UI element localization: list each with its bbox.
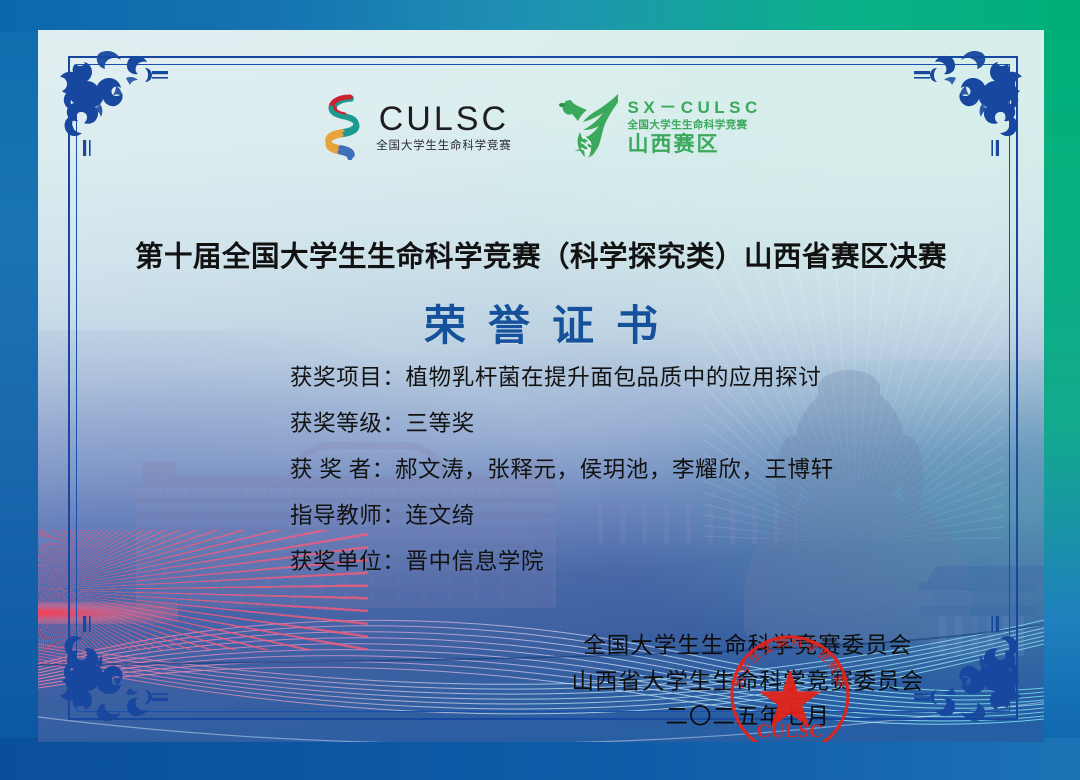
certificate-content: CULSC 全国大学生生命科学竞赛 — [38, 30, 1044, 742]
sx-culsc-region: 山西赛区 — [628, 134, 762, 155]
field-value: 植物乳杆菌在提升面包品质中的应用探讨 — [406, 360, 822, 392]
logo-row: CULSC 全国大学生生命科学竞赛 — [38, 92, 1044, 162]
culsc-acronym: CULSC — [379, 102, 509, 136]
field-row: 指导教师： 连文绮 — [290, 498, 990, 530]
certificate-root: CULSC 全国大学生生命科学竞赛 — [0, 0, 1080, 780]
field-row: 获奖等级： 三等奖 — [290, 406, 990, 438]
sx-culsc-province-logo: SX－CULSC 全国大学生生命科学竞赛 山西赛区 — [558, 92, 762, 162]
official-red-seal: 全国大学生生命科学竞赛委员会 CULSC — [728, 633, 852, 742]
culsc-wordmark: CULSC 全国大学生生命科学竞赛 — [376, 102, 511, 153]
field-label: 获奖等级： — [290, 406, 406, 438]
field-label: 获奖项目： — [290, 360, 406, 392]
phoenix-bird-dna-icon — [558, 92, 620, 162]
border-band-left — [0, 0, 40, 780]
field-value: 晋中信息学院 — [406, 544, 545, 576]
field-row: 获奖单位： 晋中信息学院 — [290, 544, 990, 576]
certificate-panel: CULSC 全国大学生生命科学竞赛 — [38, 30, 1044, 742]
border-band-right — [1040, 0, 1080, 780]
field-label: 获 奖 者： — [290, 452, 395, 484]
svg-text:CULSC: CULSC — [757, 721, 824, 742]
field-value: 郝文涛，张释元，侯玥池，李耀欣，王博轩 — [395, 452, 834, 484]
sx-culsc-subtitle: 全国大学生生命科学竞赛 — [628, 120, 762, 131]
competition-title: 第十届全国大学生生命科学竞赛（科学探究类）山西省赛区决赛 — [38, 234, 1044, 275]
culsc-subtitle: 全国大学生生命科学竞赛 — [376, 141, 511, 153]
honor-certificate-title: 荣誉证书 — [38, 292, 1044, 353]
dna-helix-icon — [320, 94, 364, 160]
field-label: 指导教师： — [290, 498, 406, 530]
field-label: 获奖单位： — [290, 544, 406, 576]
field-value: 连文绮 — [406, 498, 475, 530]
field-row: 获 奖 者： 郝文涛，张释元，侯玥池，李耀欣，王博轩 — [290, 452, 990, 484]
border-band-bottom — [0, 738, 1080, 780]
field-value: 三等奖 — [406, 406, 475, 438]
sx-culsc-wordmark: SX－CULSC 全国大学生生命科学竞赛 山西赛区 — [628, 99, 762, 156]
border-band-top — [0, 0, 1080, 32]
sx-culsc-acronym: SX－CULSC — [628, 99, 762, 116]
award-fields: 获奖项目： 植物乳杆菌在提升面包品质中的应用探讨 获奖等级： 三等奖 获 奖 者… — [290, 360, 990, 590]
field-row: 获奖项目： 植物乳杆菌在提升面包品质中的应用探讨 — [290, 360, 990, 392]
culsc-national-logo: CULSC 全国大学生生命科学竞赛 — [320, 94, 511, 160]
